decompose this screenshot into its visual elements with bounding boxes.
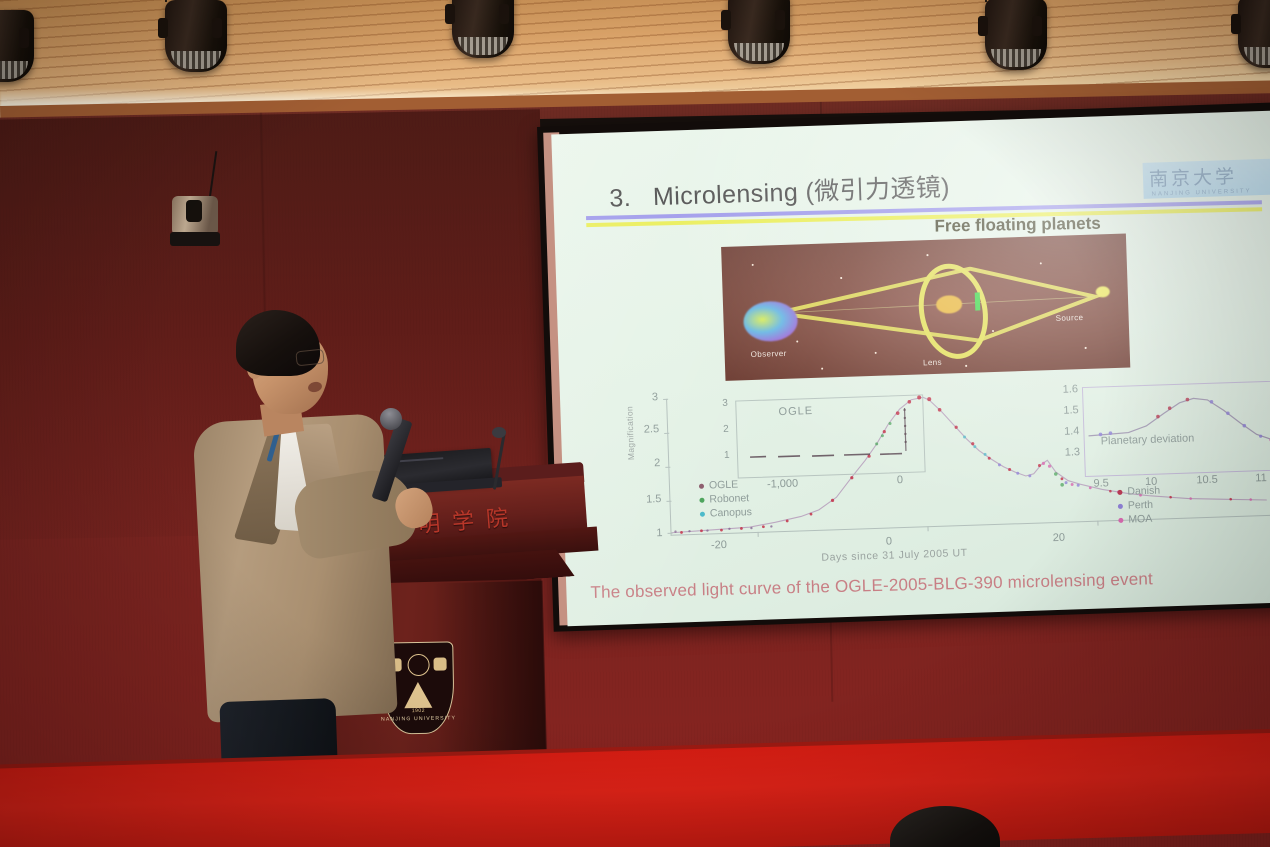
chart-y-tick: 1.5: [633, 493, 661, 506]
legend-label-robonet: Robonet: [709, 492, 749, 505]
university-logo-cn: 南京大学: [1149, 162, 1238, 192]
chart-y-tick: 3: [630, 391, 658, 404]
slide-title: 3.Microlensing (微引力透镜): [609, 167, 951, 214]
presentation-slide: 3.Microlensing (微引力透镜) 南京大学 NANJING UNIV…: [551, 110, 1270, 626]
free-floating-planets-annotation: Free floating planets: [934, 214, 1101, 237]
legend-label-canopus: Canopus: [710, 506, 752, 519]
chart-legend-right: Danish Perth MOA: [1117, 485, 1161, 528]
legend-swatch-ogle: [699, 483, 704, 488]
gooseneck-microphone-head: [492, 427, 506, 438]
chart-x-tick: -20: [699, 539, 739, 552]
inset-ogle-y-tick: 2: [723, 424, 729, 435]
inset-planetary-y-tick: 1.4: [1064, 425, 1080, 438]
chart-y-tick: 2.5: [631, 423, 659, 436]
planetary-deviation-inset: Planetary deviation 1.6 1.5 1.4 1.3 9.5 …: [1082, 379, 1270, 477]
inset-planetary-x-tick: 11: [1244, 472, 1270, 485]
slide-section-number: 3.: [609, 184, 632, 213]
legend-label-perth: Perth: [1128, 499, 1153, 512]
chart-y-tick: 2: [632, 457, 660, 470]
source-star-icon: [1096, 286, 1110, 297]
slide-title-en: Microlensing: [653, 178, 799, 211]
slide-title-cn: (微引力透镜): [805, 173, 950, 206]
diagram-label-observer: Observer: [751, 349, 787, 359]
legend-swatch-danish: [1117, 489, 1122, 494]
chart-y-tick: 1: [634, 527, 662, 540]
chart-x-tick: 0: [869, 535, 909, 548]
chart-plot-area: OGLE 3 2 1 -1,000 0: [666, 379, 1270, 536]
lecture-hall-photo: 3.Microlensing (微引力透镜) 南京大学 NANJING UNIV…: [0, 0, 1270, 847]
projection-screen: 3.Microlensing (微引力透镜) 南京大学 NANJING UNIV…: [537, 102, 1270, 636]
diagram-label-source: Source: [1055, 313, 1083, 323]
ogle-baseline-inset: OGLE 3 2 1 -1,000 0: [735, 394, 925, 478]
university-logo: 南京大学 NANJING UNIVERSITY: [1143, 158, 1270, 199]
diagram-label-lens: Lens: [923, 358, 942, 368]
chart-x-tick: 20: [1039, 531, 1079, 544]
inset-planetary-y-tick: 1.6: [1063, 383, 1079, 396]
inset-ogle-y-tick: 1: [724, 450, 730, 461]
legend-swatch-moa: [1118, 517, 1123, 522]
legend-label-danish: Danish: [1127, 485, 1160, 498]
speaker-hair: [236, 310, 320, 376]
legend-swatch-perth: [1118, 503, 1123, 508]
inset-planetary-y-tick: 1.5: [1063, 404, 1079, 417]
chart-legend-left: OGLE Robonet Canopus: [699, 478, 752, 522]
inset-planetary-x-tick: 10.5: [1190, 473, 1224, 486]
light-curve-chart: Magnification 3 2.5 2 1.5 1: [626, 375, 1270, 579]
eyeglasses-icon: [295, 349, 324, 367]
legend-label-moa: MOA: [1128, 513, 1152, 526]
chart-x-axis-label: Days since 31 July 2005 UT: [821, 547, 968, 564]
inset-planetary-y-tick: 1.3: [1065, 446, 1081, 459]
planet-marker-icon: [975, 292, 981, 310]
inset-ogle-x-tick: 0: [897, 474, 904, 486]
inset-ogle-x-tick: -1,000: [767, 478, 799, 491]
legend-swatch-canopus: [700, 511, 705, 516]
legend-label-ogle: OGLE: [709, 479, 739, 492]
legend-swatch-robonet: [699, 497, 704, 502]
inset-ogle-y-tick: 3: [722, 398, 728, 409]
inset-planetary-x-tick: 9.5: [1084, 477, 1118, 490]
microlensing-diagram: Observer Lens Source: [721, 234, 1130, 381]
